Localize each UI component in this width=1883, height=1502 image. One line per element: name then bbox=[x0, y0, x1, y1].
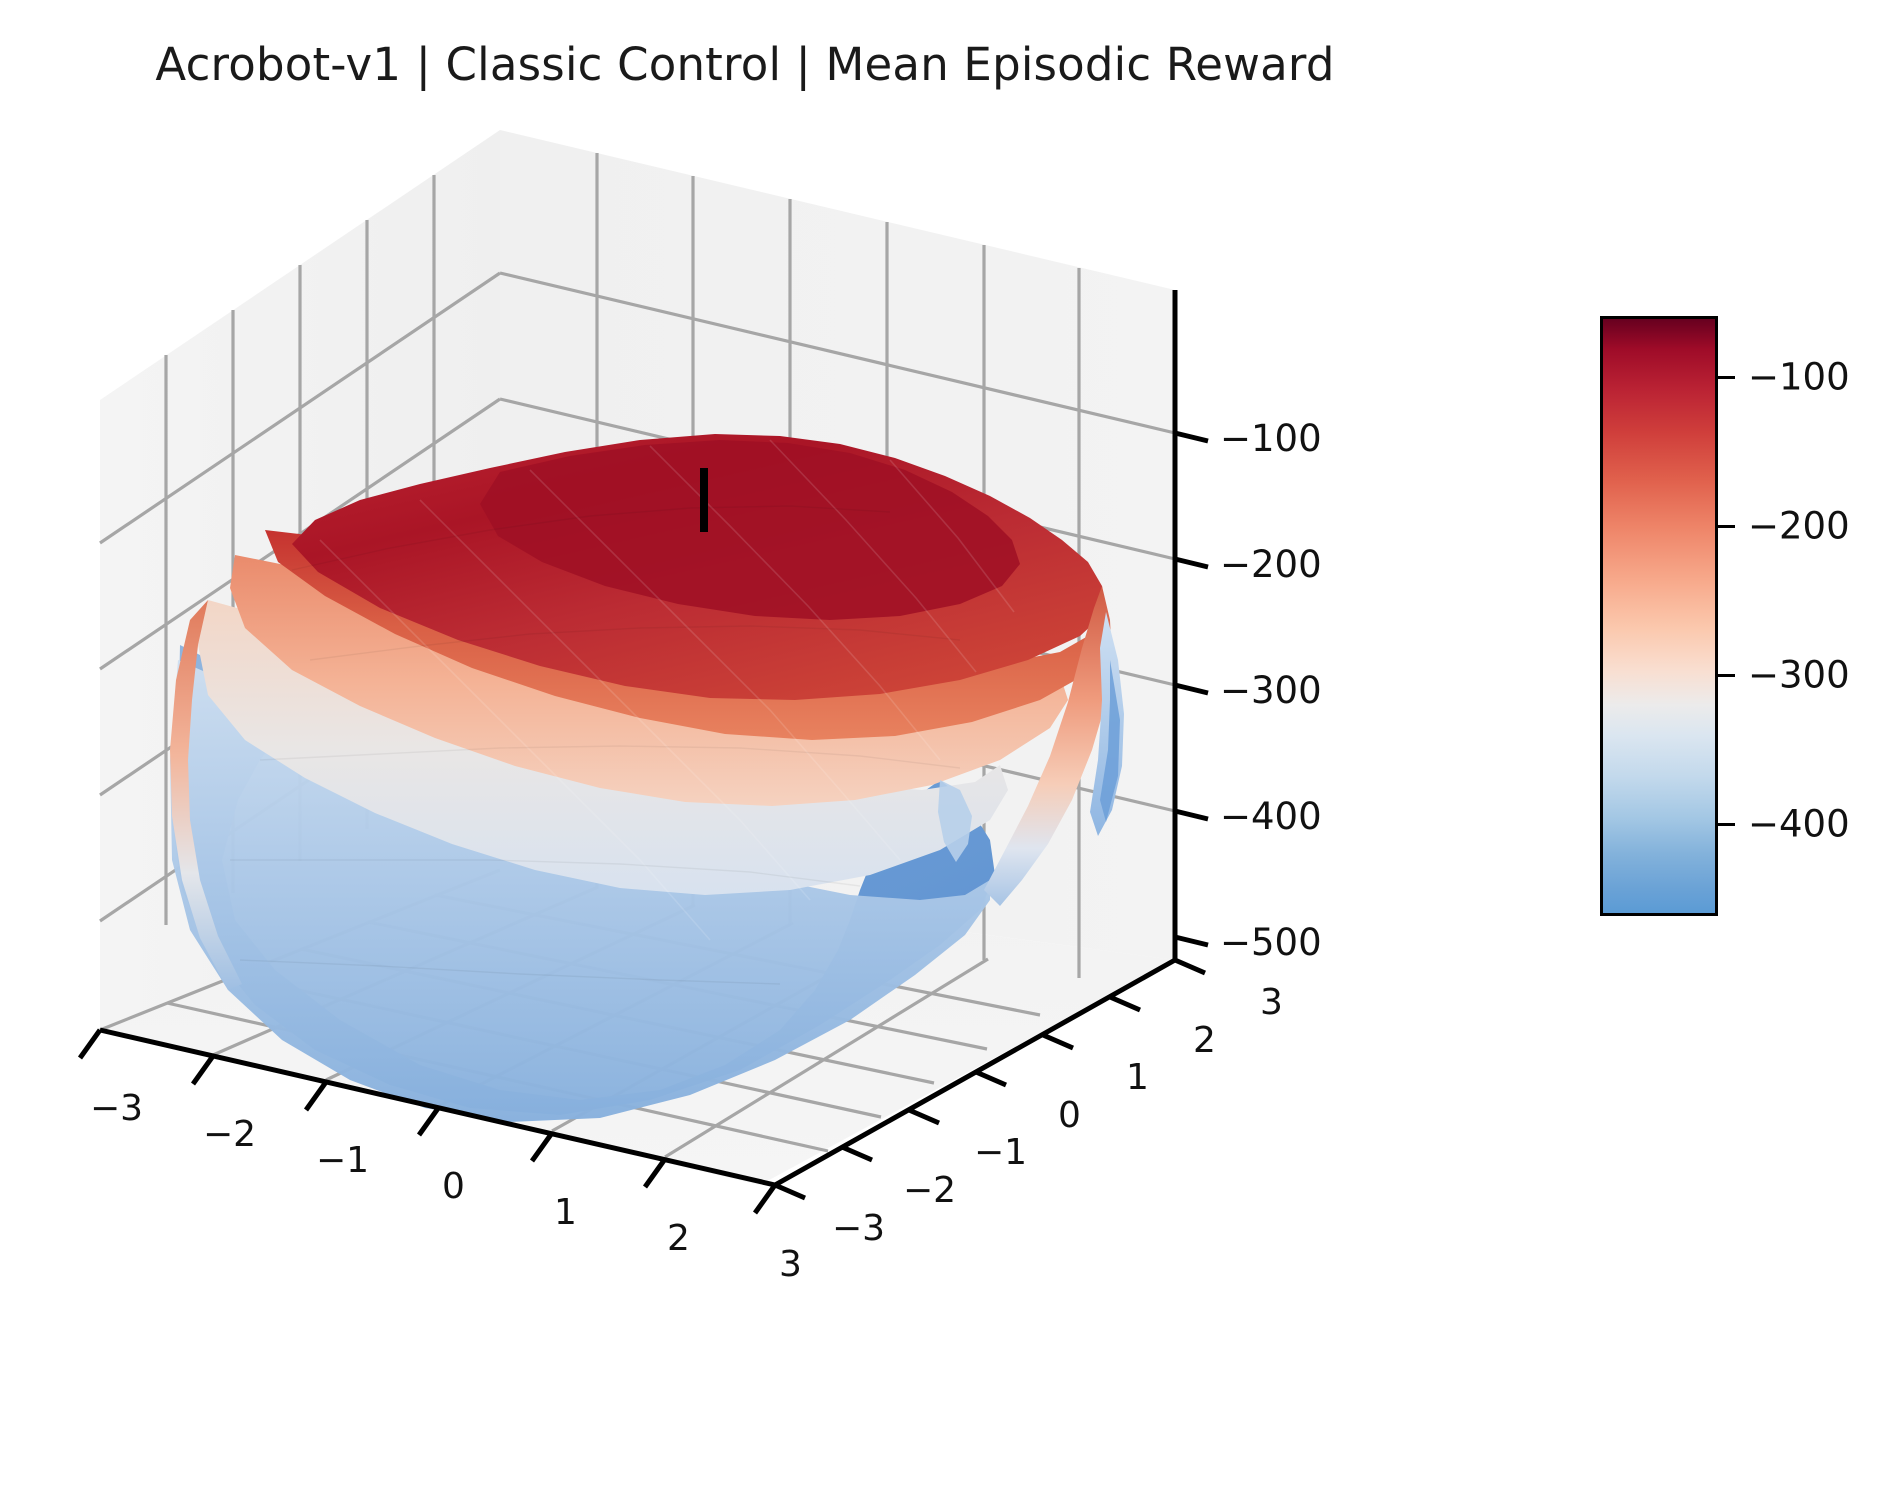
z-axis-ticks bbox=[1175, 433, 1208, 945]
colorbar-tick-mark-3 bbox=[1718, 823, 1735, 826]
y-tick-label-6: 3 bbox=[1260, 982, 1283, 1023]
z-tick-label-3: −400 bbox=[1220, 795, 1322, 838]
z-tick-label-4: −500 bbox=[1220, 921, 1322, 964]
colorbar-gradient[interactable] bbox=[1600, 316, 1718, 916]
z-tick-label-0: −100 bbox=[1220, 417, 1322, 460]
x-tick-label-6: 3 bbox=[779, 1244, 802, 1285]
colorbar-tick-mark-0 bbox=[1718, 376, 1735, 379]
colorbar-tick-label-0: −100 bbox=[1748, 356, 1850, 399]
y-tick-label-1: −2 bbox=[903, 1170, 956, 1211]
x-tick-label-4: 1 bbox=[554, 1192, 577, 1233]
x-tick-label-1: −2 bbox=[203, 1114, 256, 1155]
y-tick-label-0: −3 bbox=[832, 1208, 885, 1249]
x-tick-label-2: −1 bbox=[316, 1140, 369, 1181]
colorbar-tick-label-2: −300 bbox=[1748, 654, 1850, 697]
z-tick-label-1: −200 bbox=[1220, 543, 1322, 586]
z-tick-label-2: −300 bbox=[1220, 669, 1322, 712]
colorbar-tick-mark-2 bbox=[1718, 674, 1735, 677]
colorbar-tick-label-3: −400 bbox=[1748, 803, 1850, 846]
y-tick-label-4: 1 bbox=[1126, 1057, 1149, 1098]
surface-plot-axes: −3 −2 −1 0 1 2 3 −3 −2 −1 0 1 2 3 −100 −… bbox=[60, 100, 1320, 1330]
x-tick-label-0: −3 bbox=[90, 1088, 143, 1129]
x-tick-label-3: 0 bbox=[442, 1166, 465, 1207]
y-tick-label-3: 0 bbox=[1058, 1095, 1081, 1136]
colorbar-tick-mark-1 bbox=[1718, 525, 1735, 528]
page-title: Acrobot-v1 | Classic Control | Mean Epis… bbox=[0, 38, 1490, 91]
colorbar-tick-label-1: −200 bbox=[1748, 505, 1850, 548]
x-tick-label-5: 2 bbox=[667, 1218, 690, 1259]
y-tick-label-2: −1 bbox=[974, 1132, 1027, 1173]
y-tick-label-5: 2 bbox=[1193, 1020, 1216, 1061]
reward-colorbar[interactable]: −100 −200 −300 −400 bbox=[1600, 316, 1850, 926]
